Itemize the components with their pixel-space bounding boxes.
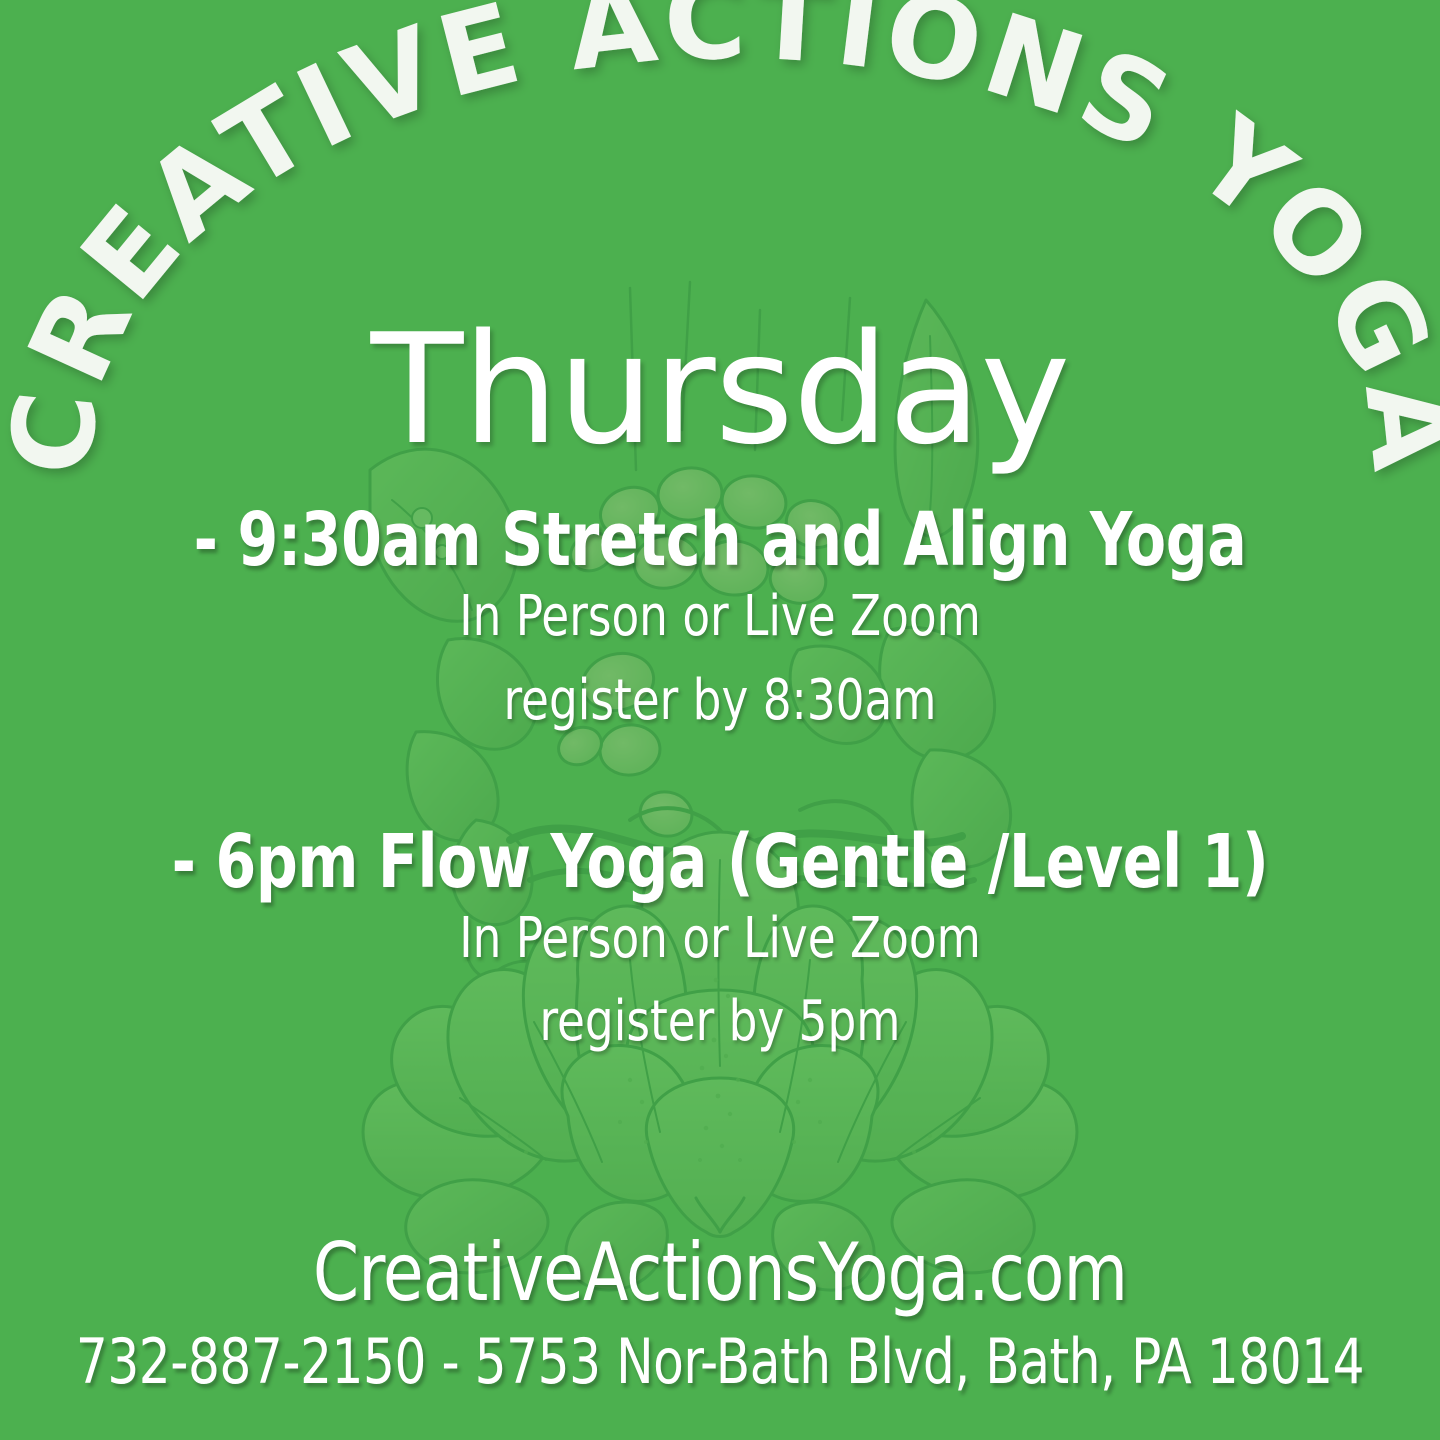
page-title: Thursday — [371, 318, 1070, 462]
class-register-evening: register by 5pm — [117, 985, 1323, 1059]
poster-footer: CreativeActionsYoga.com 732-887-2150 - 5… — [0, 1231, 1440, 1394]
poster-content: Thursday - 9:30am Stretch and Align Yoga… — [0, 0, 1440, 1440]
phone-and-address: 732-887-2150 - 5753 Nor-Bath Blvd, Bath,… — [72, 1329, 1368, 1394]
class-register-morning: register by 8:30am — [117, 664, 1323, 738]
class-listing-morning: - 9:30am Stretch and Align Yoga In Perso… — [50, 502, 1390, 738]
class-listing-evening: - 6pm Flow Yoga (Gentle /Level 1) In Per… — [50, 824, 1390, 1060]
class-title-evening: - 6pm Flow Yoga (Gentle /Level 1) — [130, 824, 1309, 902]
yoga-schedule-poster: CREATIVE ACTIONS YOGA Thursday - 9:30am … — [0, 0, 1440, 1440]
class-format-evening: In Person or Live Zoom — [117, 902, 1323, 976]
class-title-morning: - 9:30am Stretch and Align Yoga — [130, 502, 1309, 580]
class-format-morning: In Person or Live Zoom — [117, 580, 1323, 654]
website-url[interactable]: CreativeActionsYoga.com — [58, 1231, 1383, 1315]
